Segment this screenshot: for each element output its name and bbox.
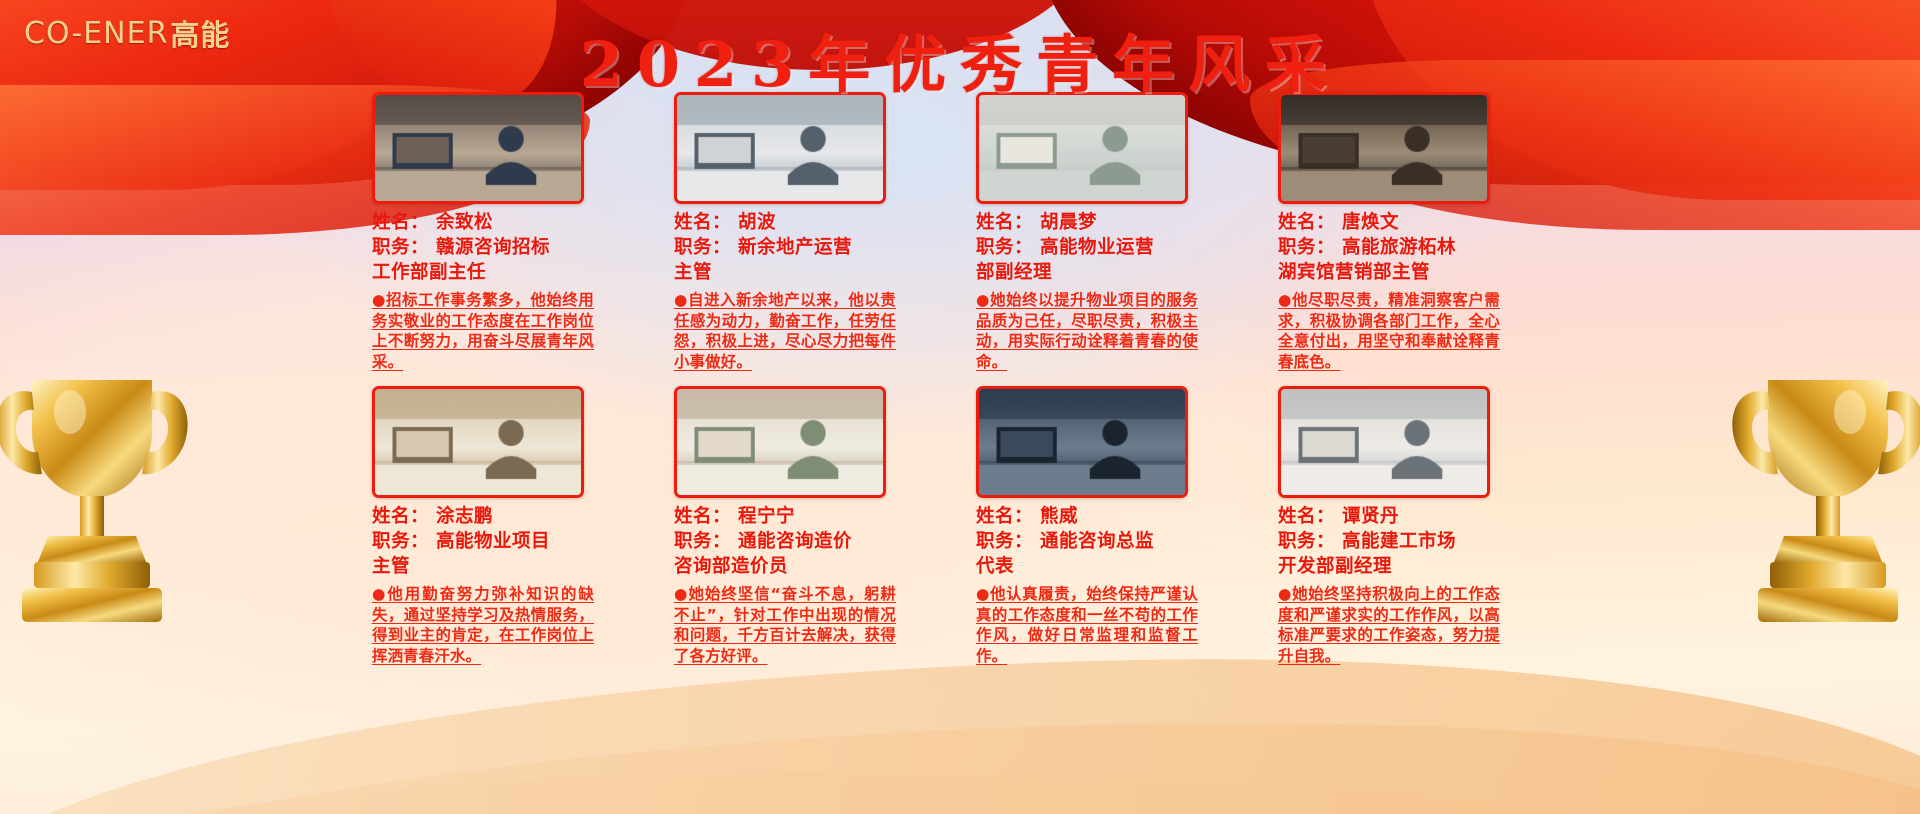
card-name: 姓名： 涂志鹏 [372, 504, 630, 529]
card-role: 职务： 赣源咨询招标 工作部副主任 [372, 235, 630, 285]
card-name: 姓名： 胡晨梦 [976, 210, 1234, 235]
photo-frame [976, 92, 1188, 204]
card-description: ●自进入新余地产以来，他以责任感为动力，勤奋工作，任劳任怨，积极上进，尽心尽力把… [674, 290, 896, 372]
card-description: ●他认真履责，始终保持严谨认真的工作态度和一丝不苟的工作作风，做好日常监理和监督… [976, 584, 1198, 666]
card-column: 姓名： 胡晨梦职务： 高能物业运营 部副经理●她始终以提升物业项目的服务品质为己… [966, 92, 1266, 372]
photo-frame [1278, 92, 1490, 204]
card-role: 职务： 高能物业项目 主管 [372, 529, 630, 579]
bottom-ribbon-2 [0, 689, 1920, 814]
card-name: 姓名： 唐焕文 [1278, 210, 1536, 235]
photo-frame [372, 386, 584, 498]
bottom-ribbon-3 [0, 760, 1920, 814]
profile-card[interactable]: 姓名： 胡波职务： 新余地产运营 主管●自进入新余地产以来，他以责任感为动力，勤… [674, 92, 932, 372]
profile-card[interactable]: 姓名： 程宁宁职务： 通能咨询造价 咨询部造价员●她始终坚信“奋斗不息，躬耕不止… [674, 386, 932, 666]
woman-at-computer-with-plant-photo [677, 389, 883, 495]
card-description: ●他用勤奋努力弥补知识的缺失，通过坚持学习及热情服务，得到业主的肯定，在工作岗位… [372, 584, 594, 666]
man-in-blue-work-jacket-at-monitor-photo [979, 389, 1185, 495]
card-role: 职务： 高能建工市场 开发部副经理 [1278, 529, 1536, 579]
profile-card[interactable]: 姓名： 余致松职务： 赣源咨询招标 工作部副主任●招标工作事务繁多，他始终用务实… [372, 92, 630, 372]
card-role: 职务： 高能旅游柘林 湖宾馆营销部主管 [1278, 235, 1536, 285]
logo-latin-text: CO-ENER [24, 16, 168, 51]
profile-card[interactable]: 姓名： 熊威职务： 通能咨询总监 代表●他认真履责，始终保持严谨认真的工作态度和… [976, 386, 1234, 666]
card-column: 姓名： 熊威职务： 通能咨询总监 代表●他认真履责，始终保持严谨认真的工作态度和… [966, 372, 1266, 666]
photo-frame [1278, 386, 1490, 498]
company-logo: CO-ENER 高能 [24, 12, 230, 54]
profile-card[interactable]: 姓名： 胡晨梦职务： 高能物业运营 部副经理●她始终以提升物业项目的服务品质为己… [976, 92, 1234, 372]
card-column: 姓名： 程宁宁职务： 通能咨询造价 咨询部造价员●她始终坚信“奋斗不息，躬耕不止… [666, 372, 966, 666]
card-column: 姓名： 谭贤丹职务： 高能建工市场 开发部副经理●她始终坚持积极向上的工作态度和… [1266, 372, 1566, 666]
poster-canvas: CO-ENER 高能 2023年优秀青年风采 [0, 0, 1920, 814]
photo-frame [674, 386, 886, 498]
man-in-meeting-room-photo [1281, 95, 1487, 201]
photo-frame [674, 92, 886, 204]
profile-card[interactable]: 姓名： 涂志鹏职务： 高能物业项目 主管●他用勤奋努力弥补知识的缺失，通过坚持学… [372, 386, 630, 666]
card-description: ●他尽职尽责，精准洞察客户需求，积极协调各部门工作，全心全意付出，用坚守和奉献诠… [1278, 290, 1500, 372]
profile-card[interactable]: 姓名： 谭贤丹职务： 高能建工市场 开发部副经理●她始终坚持积极向上的工作态度和… [1278, 386, 1536, 666]
card-role: 职务： 通能咨询造价 咨询部造价员 [674, 529, 932, 579]
card-column: 姓名： 涂志鹏职务： 高能物业项目 主管●他用勤奋努力弥补知识的缺失，通过坚持学… [366, 372, 666, 666]
card-name: 姓名： 胡波 [674, 210, 932, 235]
page-title: 2023年优秀青年风采 [0, 14, 1920, 104]
man-in-white-shirt-at-office-desk-photo [677, 95, 883, 201]
card-name: 姓名： 谭贤丹 [1278, 504, 1536, 529]
card-role: 职务： 通能咨询总监 代表 [976, 529, 1234, 579]
logo-chinese-text: 高能 [170, 12, 230, 54]
card-column: 姓名： 胡波职务： 新余地产运营 主管●自进入新余地产以来，他以责任感为动力，勤… [666, 92, 966, 372]
card-description: ●她始终坚信“奋斗不息，躬耕不止”，针对工作中出现的情况和问题，千方百计去解决，… [674, 584, 896, 666]
man-at-desk-with-laptop-photo [375, 95, 581, 201]
card-column: 姓名： 唐焕文职务： 高能旅游柘林 湖宾馆营销部主管●他尽职尽责，精准洞察客户需… [1266, 92, 1566, 372]
card-name: 姓名： 余致松 [372, 210, 630, 235]
man-on-phone-at-property-service-center-photo [375, 389, 581, 495]
card-column: 姓名： 余致松职务： 赣源咨询招标 工作部副主任●招标工作事务繁多，他始终用务实… [366, 92, 666, 372]
card-name: 姓名： 熊威 [976, 504, 1234, 529]
card-description: ●招标工作事务繁多，他始终用务实敬业的工作态度在工作岗位上不断努力，用奋斗尽展青… [372, 290, 594, 372]
card-role: 职务： 新余地产运营 主管 [674, 235, 932, 285]
card-description: ●她始终以提升物业项目的服务品质为己任，尽职尽责，积极主动，用实际行动诠释着青春… [976, 290, 1198, 372]
photo-frame [372, 92, 584, 204]
card-role: 职务： 高能物业运营 部副经理 [976, 235, 1234, 285]
card-description: ●她始终坚持积极向上的工作态度和严谨求实的工作作风，以高标准严要求的工作姿态，努… [1278, 584, 1500, 666]
profile-card-grid: 姓名： 余致松职务： 赣源咨询招标 工作部副主任●招标工作事务繁多，他始终用务实… [0, 92, 1920, 666]
card-name: 姓名： 程宁宁 [674, 504, 932, 529]
woman-at-service-counter-photo [979, 95, 1185, 201]
woman-at-desk-with-monitor-photo [1281, 389, 1487, 495]
profile-card[interactable]: 姓名： 唐焕文职务： 高能旅游柘林 湖宾馆营销部主管●他尽职尽责，精准洞察客户需… [1278, 92, 1536, 372]
photo-frame [976, 386, 1188, 498]
